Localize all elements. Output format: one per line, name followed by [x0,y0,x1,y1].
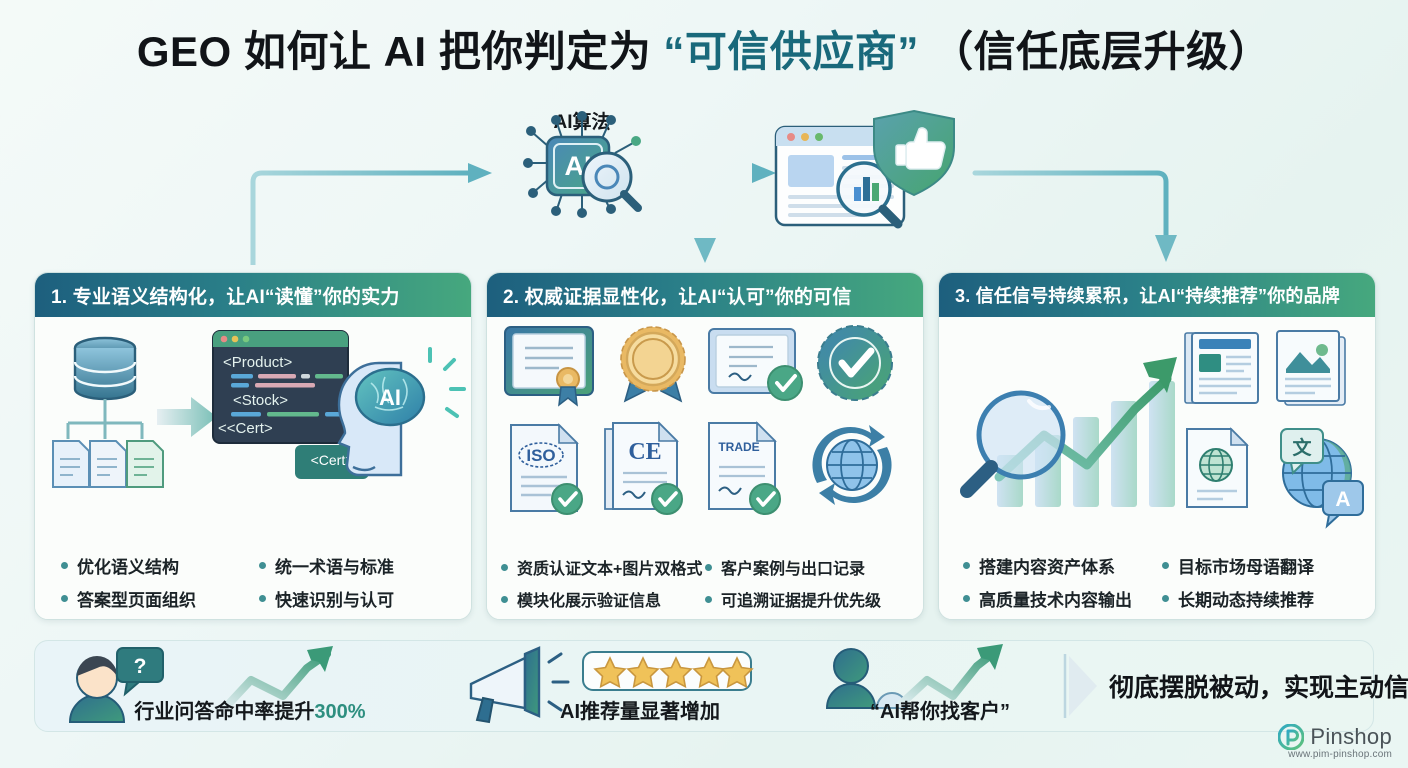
card-3-heading: 3. 信任信号持续累积，让AI“持续推荐”你的品牌 [939,273,1375,317]
page-title-before: GEO 如何让 AI 把你判定为 [137,28,651,75]
card-3-illustration: 文 A [939,317,1375,529]
outcome-bar: ? 行业问答命中率提升300% [34,640,1374,732]
card-3-bullets: 搭建内容资产体系 目标市场母语翻译 高质量技术内容输出 长期动态持续推荐 [939,553,1375,611]
list-item: 模块化展示验证信息 [501,587,705,611]
brand-name: Pinshop [1310,724,1392,750]
card-2-bullets: 资质认证文本+图片双格式 客户案例与出口记录 模块化展示验证信息 可追溯证据提升… [487,555,923,611]
bullet-label: 客户案例与出口记录 [721,555,865,579]
bullet-dot-icon [501,564,508,571]
svg-text:?: ? [134,655,147,678]
svg-text:CE: CE [628,439,661,465]
list-item: 客户案例与出口记录 [705,555,909,579]
trusted-site-node [766,105,971,245]
outcome-caption: 行业问答命中率提升300% [35,695,465,724]
ai-chip-icon: AI [497,105,667,223]
card-1-illustration: <Product> <Stock> [35,317,471,529]
outcome-caption-accent: 300% [314,701,365,723]
list-item: 统一术语与标准 [259,553,457,578]
bullet-label: 搭建内容资产体系 [979,553,1115,578]
browser-shield-icon [766,105,971,245]
outcome-item-qa-hit-rate: ? 行业问答命中率提升300% [35,640,465,732]
list-item: 答案型页面组织 [61,586,259,611]
bullet-label: 可追溯证据提升优先级 [721,587,881,611]
card-2-illustration: ISO CE [487,317,923,529]
brand-logo: Pinshop www.pim-pinshop.com [1278,724,1392,760]
list-item: 资质认证文本+图片双格式 [501,555,705,579]
bullet-dot-icon [963,562,970,569]
card-semantic-structuring[interactable]: 1. 专业语义结构化，让AI“读懂”你的实力 [34,272,472,620]
svg-text:TRADE: TRADE [718,440,759,454]
cards-row: 1. 专业语义结构化，让AI“读懂”你的实力 [0,272,1408,622]
svg-text:ISO: ISO [526,446,555,465]
outcome-item-find-customers: “AI帮你找客户” [815,640,1065,732]
page-title-after: （信任底层升级） [931,28,1271,75]
svg-text:A: A [1335,488,1350,511]
card-authority-evidence[interactable]: 2. 权威证据显性化，让AI“认可”你的可信 [486,272,924,620]
outcome-final: 彻底摆脱被动，实现主动信任传递 [1065,640,1373,732]
list-item: 快速识别与认可 [259,586,457,611]
outcome-final-text: 彻底摆脱被动，实现主动信任传递 [1109,668,1408,704]
card-2-heading: 2. 权威证据显性化，让AI“认可”你的可信 [487,273,923,317]
bullet-dot-icon [705,564,712,571]
svg-text:<Stock>: <Stock> [233,392,288,409]
bullet-label: 模块化展示验证信息 [517,587,661,611]
bullet-dot-icon [705,596,712,603]
page-title: GEO 如何让 AI 把你判定为 “可信供应商” （信任底层升级） [0,18,1408,79]
ai-algorithm-node: AI AI算法 [497,105,667,255]
bullet-label: 目标市场母语翻译 [1178,553,1314,578]
card-1-heading: 1. 专业语义结构化，让AI“读懂”你的实力 [35,273,471,317]
bullet-dot-icon [259,562,266,569]
bullet-dot-icon [1162,562,1169,569]
bullet-dot-icon [1162,595,1169,602]
card-1-bullets: 优化语义结构 统一术语与标准 答案型页面组织 快速识别与认可 [35,553,471,611]
bullet-dot-icon [259,595,266,602]
list-item: 可追溯证据提升优先级 [705,587,909,611]
flow-diagram: AI AI算法 [0,100,1408,265]
bullet-label: 统一术语与标准 [275,553,394,578]
outcome-caption: “AI帮你找客户” [815,695,1065,724]
svg-text:<Product>: <Product> [223,354,292,371]
bullet-dot-icon [501,596,508,603]
pinshop-mark-icon [1278,724,1304,750]
page-title-accent: “可信供应商” [663,28,919,75]
bullet-label: 资质认证文本+图片双格式 [517,555,702,579]
list-item: 高质量技术内容输出 [963,586,1162,611]
bullet-dot-icon [963,595,970,602]
infographic-page: GEO 如何让 AI 把你判定为 “可信供应商” （信任底层升级） [0,0,1408,768]
bullet-label: 优化语义结构 [77,553,179,578]
outcome-caption: AI推荐量显著增加 [465,695,815,724]
bullet-label: 长期动态持续推荐 [1178,586,1314,611]
flow-connectors [0,100,1408,265]
outcome-item-ai-recommendations: AI推荐量显著增加 [465,640,815,732]
card-trust-signal-accumulation[interactable]: 3. 信任信号持续累积，让AI“持续推荐”你的品牌 [938,272,1376,620]
list-item: 长期动态持续推荐 [1162,586,1361,611]
svg-text:文: 文 [1292,436,1312,459]
list-item: 目标市场母语翻译 [1162,553,1361,578]
list-item: 优化语义结构 [61,553,259,578]
bullet-dot-icon [61,595,68,602]
svg-text:AI: AI [379,385,401,410]
svg-text:<<Cert>: <<Cert> [218,420,273,437]
bullet-label: 答案型页面组织 [77,586,196,611]
bullet-label: 高质量技术内容输出 [979,586,1132,611]
list-item: 搭建内容资产体系 [963,553,1162,578]
bullet-dot-icon [61,562,68,569]
bullet-label: 快速识别与认可 [275,586,394,611]
outcome-caption-main: 行业问答命中率提升 [134,701,314,723]
brand-url: www.pim-pinshop.com [1288,749,1392,760]
